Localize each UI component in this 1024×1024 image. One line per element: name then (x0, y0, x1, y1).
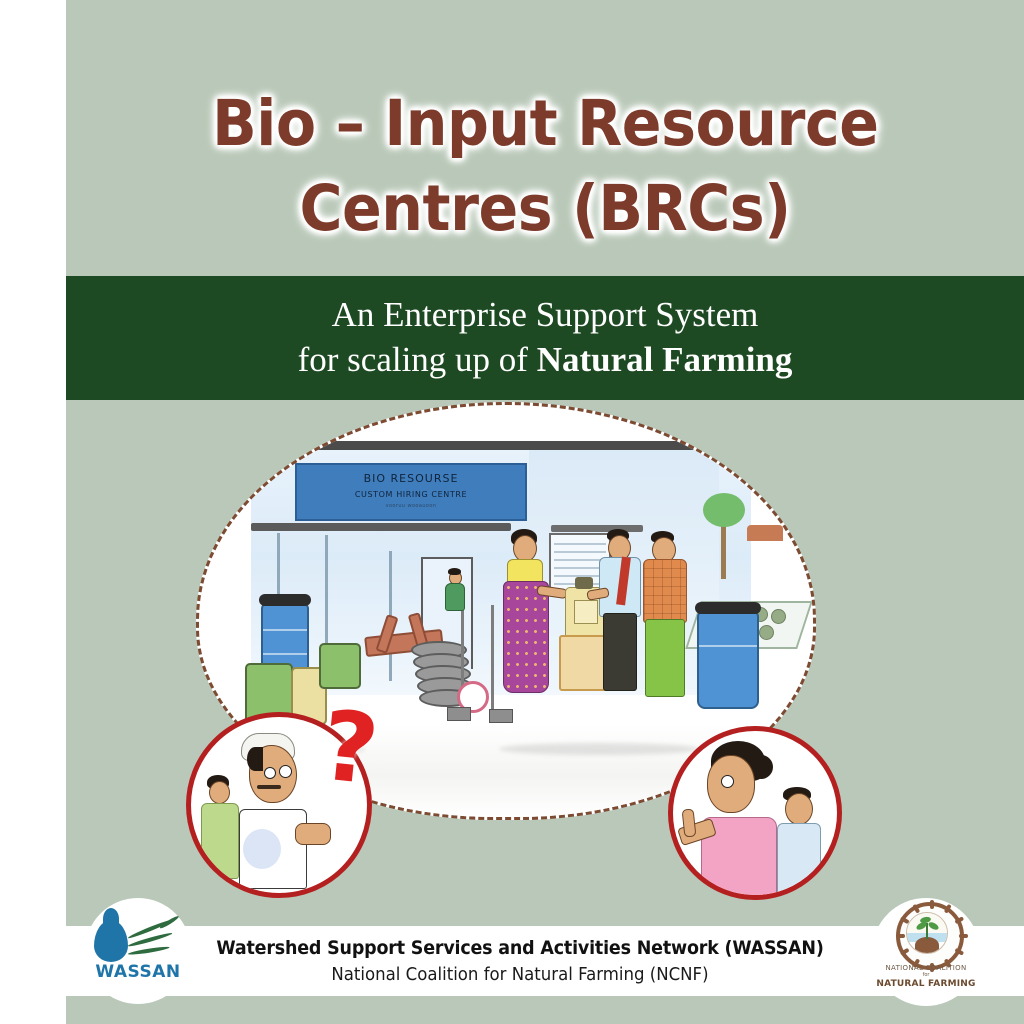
container-label (574, 600, 598, 624)
v1-hand-gesture (295, 823, 331, 845)
signboard-line-2: CUSTOM HIRING CENTRE (297, 490, 525, 499)
ncnf-soil (915, 937, 939, 953)
v2-index-finger (682, 808, 697, 837)
v2-eye (721, 775, 734, 788)
subtitle-line-2-bold: Natural Farming (537, 340, 793, 379)
signboard-line-1: BIO RESOURSE (297, 472, 525, 485)
tree-canopy (703, 493, 745, 527)
v2-man-head (785, 793, 813, 825)
blue-barrel-right (697, 609, 759, 709)
organisation-name: Watershed Support Services and Activitie… (216, 937, 823, 959)
title-line-2: Centres (BRCs) (299, 174, 790, 245)
subtitle-line-1: An Enterprise Support System (332, 293, 759, 338)
tool-shaft-2 (491, 605, 494, 713)
barrel-ring (263, 629, 307, 631)
roof-beam-left (251, 523, 511, 531)
left-white-margin (0, 0, 66, 1024)
page-title: Bio – Input Resource Centres (BRCs) (66, 62, 1024, 272)
background-hut (747, 525, 783, 541)
ncnf-line-2: for (872, 972, 980, 978)
woman-sari (503, 581, 549, 693)
v1-woman-head (209, 781, 230, 804)
barrel-lid (695, 602, 761, 614)
v1-shirt-shade (243, 829, 281, 869)
tree-trunk (721, 523, 726, 579)
coalition-name: National Coalition for Natural Farming (… (331, 964, 708, 985)
roof-beam-main (239, 441, 729, 450)
v1-moustache (257, 785, 281, 789)
footer-text-group: Watershed Support Services and Activitie… (150, 926, 890, 996)
v1-farmer-hair (247, 747, 263, 771)
barrel-ring (263, 653, 307, 655)
wassan-wordmark: WASSAN (86, 962, 190, 982)
barrel-ring (699, 645, 757, 647)
seedling-pot (759, 625, 774, 640)
ncnf-emblem-inner (906, 912, 948, 954)
woman-head (513, 535, 537, 562)
green-jerry-can-2 (319, 643, 361, 689)
man2-lungi (645, 619, 685, 697)
cover-page: Bio – Input Resource Centres (BRCs) An E… (0, 0, 1024, 1024)
ncnf-line-3: NATURAL FARMING (872, 979, 980, 989)
group-shadow (499, 743, 699, 755)
water-drop-icon (94, 920, 128, 962)
subtitle-line-2: for scaling up of Natural Farming (298, 338, 793, 383)
subtitle-text-group: An Enterprise Support System for scaling… (66, 276, 1024, 400)
sari-pattern (504, 582, 548, 692)
barrel-lid (259, 594, 311, 606)
title-line-1: Bio – Input Resource (212, 89, 878, 160)
man1-trousers (603, 613, 637, 691)
tool-blade-left (447, 707, 471, 721)
man2-shirt (643, 559, 687, 623)
seedling-pot (771, 609, 786, 624)
worker-hair (448, 568, 461, 575)
subtitle-line-2-prefix: for scaling up of (298, 340, 537, 379)
vignette-explaining-woman (668, 726, 842, 900)
shop-signboard: BIO RESOURSE CUSTOM HIRING CENTRE vooruu… (295, 463, 527, 521)
grass-blade-icon (128, 945, 170, 956)
worker-torso (445, 583, 465, 611)
v2-man-shirt (777, 823, 821, 895)
ncnf-logo: NATIONAL COALITION for NATURAL FARMING (872, 900, 980, 1004)
tool-blade-right (489, 709, 513, 723)
roof-beam-right (551, 525, 643, 532)
question-mark-icon: ? (317, 697, 382, 798)
container-cap (575, 577, 593, 589)
signboard-line-3: vooruu wooauoon (297, 503, 525, 509)
v1-eye-left (279, 765, 292, 778)
wassan-logo: WASSAN (86, 902, 190, 1002)
v1-eye-right (264, 767, 276, 779)
v1-woman-sari (201, 803, 239, 879)
ncnf-line-1: NATIONAL COALITION (872, 964, 980, 972)
